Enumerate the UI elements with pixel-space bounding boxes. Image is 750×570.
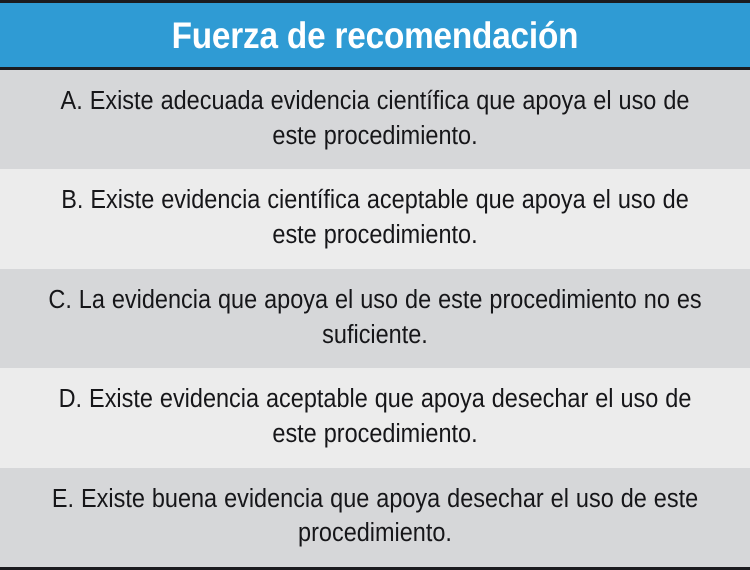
table-body: A. Existe adecuada evidencia científica … <box>0 70 750 570</box>
table-row: B. Existe evidencia científica aceptable… <box>0 169 750 268</box>
table-header: Fuerza de recomendación <box>0 0 750 70</box>
table-row: D. Existe evidencia aceptable que apoya … <box>0 368 750 467</box>
table-row: C. La evidencia que apoya el uso de este… <box>0 269 750 368</box>
recommendation-grade-e-text: E. Existe buena evidencia que apoya dese… <box>43 482 707 551</box>
table-row: E. Existe buena evidencia que apoya dese… <box>0 468 750 567</box>
recommendation-grade-c-text: C. La evidencia que apoya el uso de este… <box>43 283 707 352</box>
recommendation-strength-table: Fuerza de recomendación A. Existe adecua… <box>0 0 750 570</box>
table-title: Fuerza de recomendación <box>172 17 579 54</box>
recommendation-grade-b-text: B. Existe evidencia científica aceptable… <box>43 183 707 252</box>
recommendation-grade-d-text: D. Existe evidencia aceptable que apoya … <box>43 382 707 451</box>
table-row: A. Existe adecuada evidencia científica … <box>0 70 750 169</box>
recommendation-grade-a-text: A. Existe adecuada evidencia científica … <box>43 84 707 153</box>
